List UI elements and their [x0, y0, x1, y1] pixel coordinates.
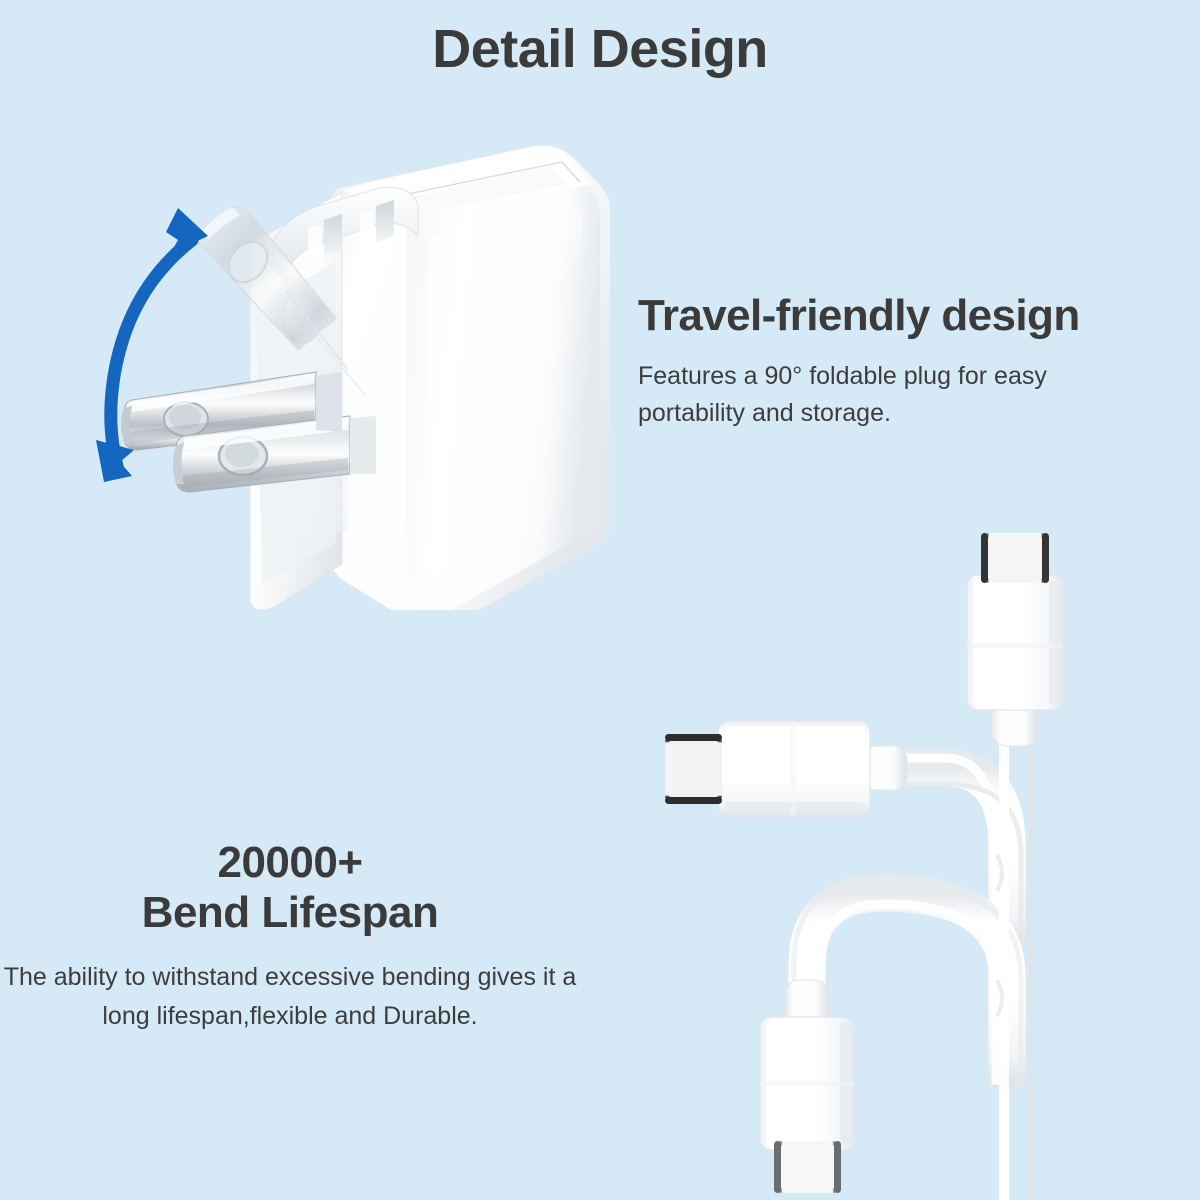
feature-travel-body: Features a 90° foldable plug for easy po… [638, 358, 1108, 431]
usb-c-cable-illustration [615, 525, 1200, 1200]
foldable-plug-illustration [80, 140, 610, 610]
usb-c-connector-bottom [760, 980, 854, 1193]
page-title: Detail Design [0, 18, 1200, 80]
feature-travel-heading: Travel-friendly design [638, 292, 1178, 340]
usb-c-connector-top [967, 533, 1063, 746]
feature-bend-body: The ability to withstand excessive bendi… [0, 958, 580, 1036]
feature-travel-friendly: Travel-friendly design Features a 90° fo… [638, 292, 1178, 431]
feature-bend-heading-label: Bend Lifespan [0, 888, 580, 938]
usb-c-connector-left [665, 721, 907, 816]
feature-bend-heading-count: 20000+ [0, 838, 580, 888]
infographic-page: Detail Design [0, 0, 1200, 1200]
feature-bend-lifespan: 20000+ Bend Lifespan The ability to with… [0, 838, 580, 1036]
